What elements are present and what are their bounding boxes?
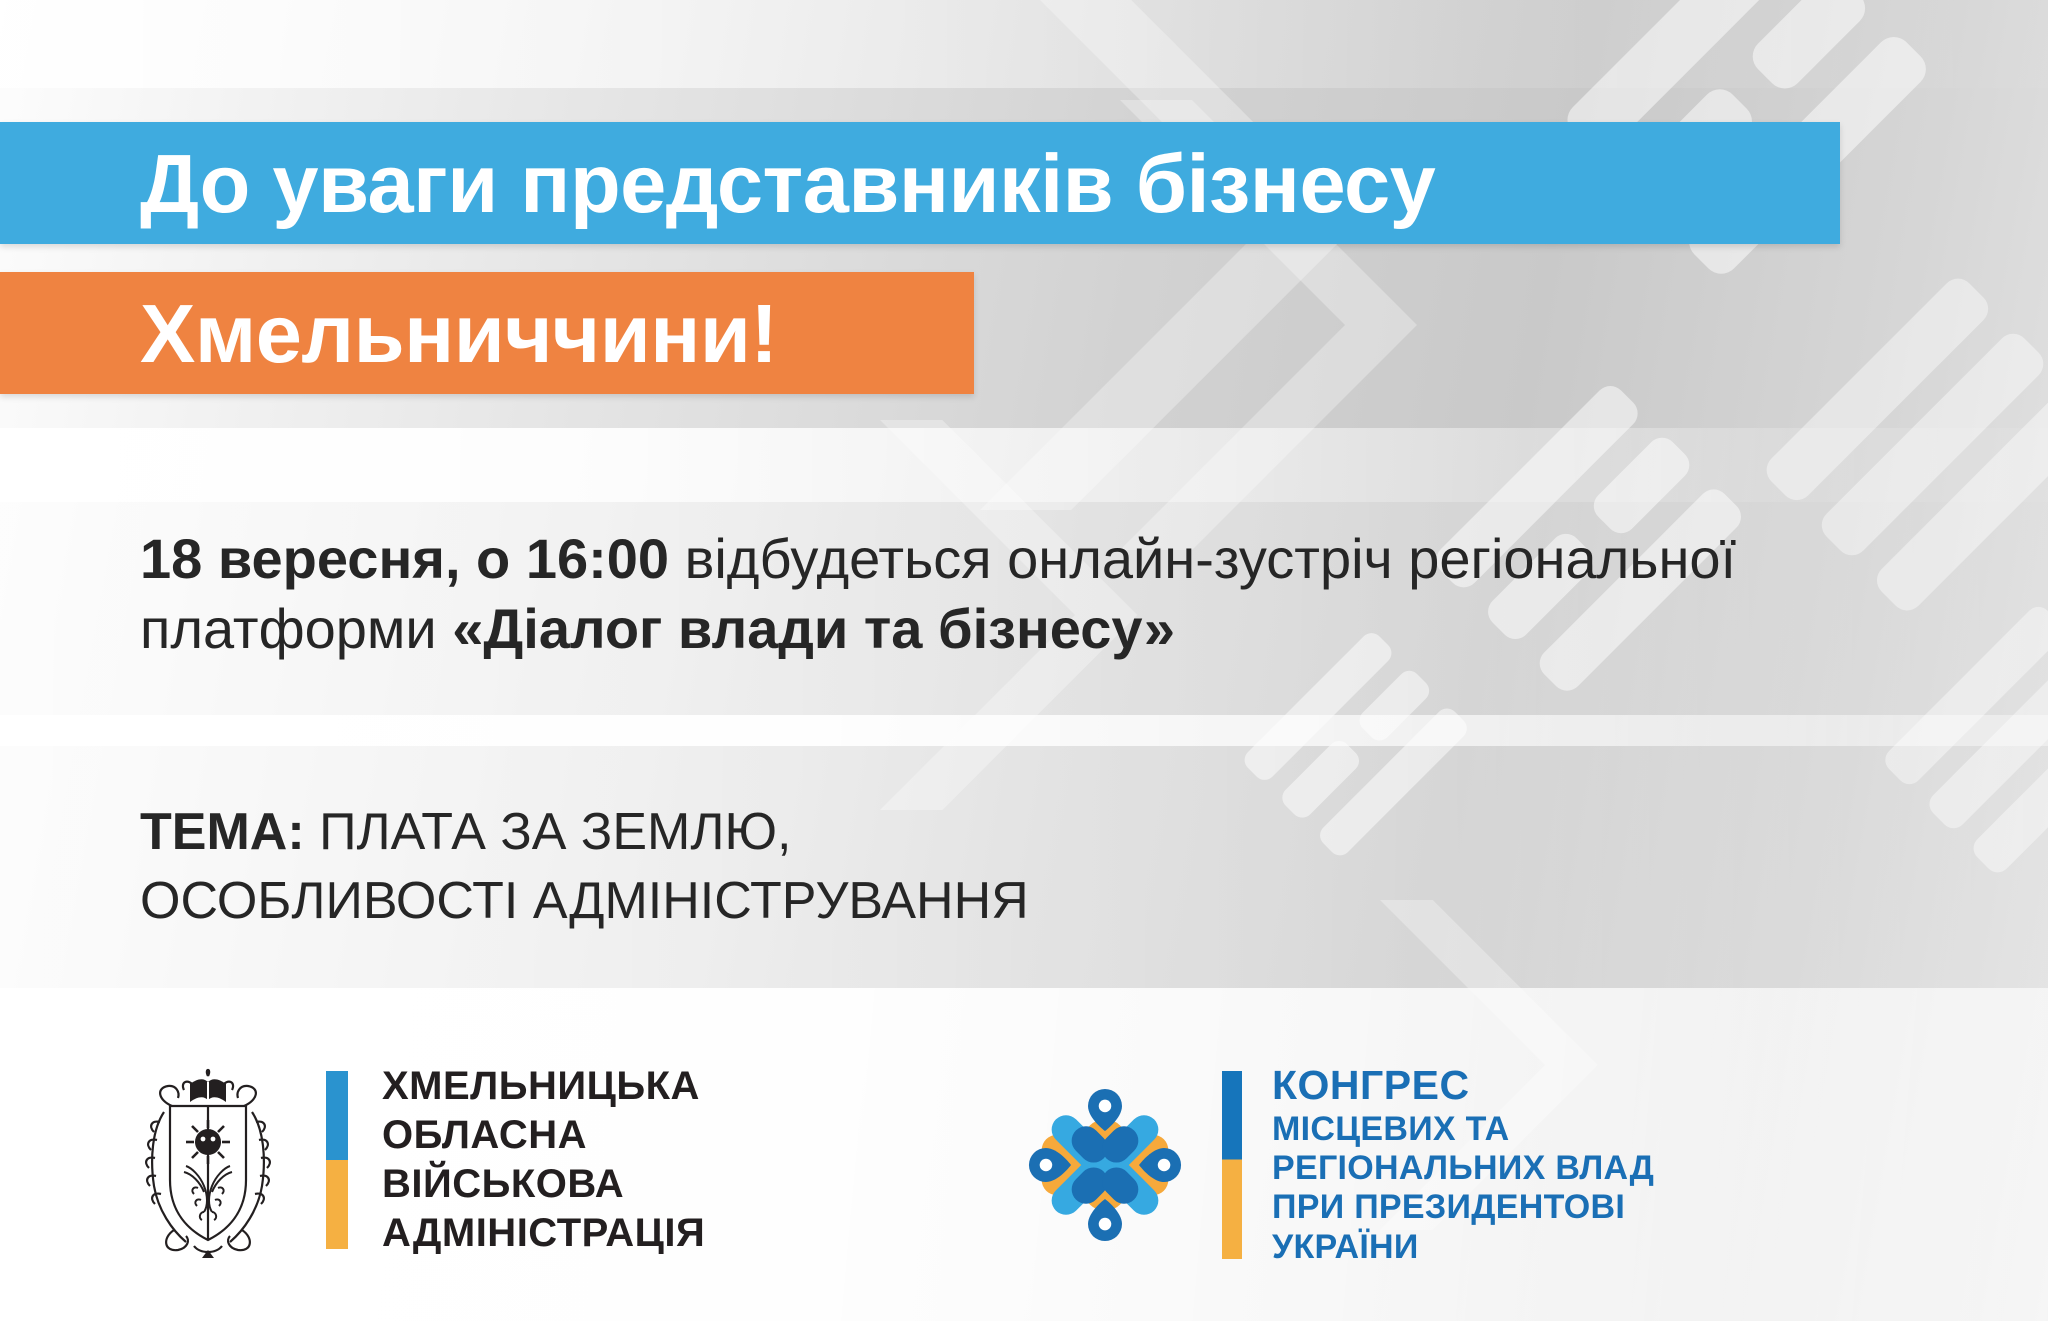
band-upper-white	[0, 428, 2048, 502]
logo-row: ХМЕЛЬНИЦЬКА ОБЛАСНА ВІЙСЬКОВА АДМІНІСТРА…	[0, 1060, 2048, 1310]
congress-line-2: МІСЦЕВИХ ТА	[1272, 1110, 1654, 1149]
topic-label: ТЕМА:	[140, 803, 305, 861]
oda-line-1: ХМЕЛЬНИЦЬКА	[382, 1062, 705, 1111]
topic-line-1: ПЛАТА ЗА ЗЕМЛЮ,	[305, 803, 792, 861]
congress-line-4: ПРИ ПРЕЗИДЕНТОВІ	[1272, 1188, 1654, 1227]
topic-block: ТЕМА: ПЛАТА ЗА ЗЕМЛЮ, ОСОБЛИВОСТІ АДМІНІ…	[140, 798, 1640, 935]
event-description: 18 вересня, о 16:00 відбудеться онлайн-з…	[140, 524, 1860, 664]
headline-bar-secondary: Хмельниччини!	[0, 272, 974, 394]
band-gap	[0, 715, 2048, 746]
oda-wordmark: ХМЕЛЬНИЦЬКА ОБЛАСНА ВІЙСЬКОВА АДМІНІСТРА…	[382, 1062, 705, 1257]
logo-congress: КОНГРЕС МІСЦЕВИХ ТА РЕГІОНАЛЬНИХ ВЛАД ПР…	[1020, 1062, 1654, 1267]
topic-line-2: ОСОБЛИВОСТІ АДМІНІСТРУВАННЯ	[140, 867, 1640, 936]
congress-line-5: УКРАЇНИ	[1272, 1228, 1654, 1267]
congress-line-3: РЕГІОНАЛЬНИХ ВЛАД	[1272, 1149, 1654, 1188]
logo-khmelnytska-oda: ХМЕЛЬНИЦЬКА ОБЛАСНА ВІЙСЬКОВА АДМІНІСТРА…	[128, 1060, 705, 1260]
headline-bar-primary: До уваги представників бізнесу	[0, 122, 1840, 244]
flag-accent-bar	[326, 1071, 348, 1249]
platform-name: «Діалог влади та бізнесу»	[452, 597, 1175, 660]
topic-first-line: ТЕМА: ПЛАТА ЗА ЗЕМЛЮ,	[140, 798, 1640, 867]
band-top	[0, 0, 2048, 88]
congress-line-1: КОНГРЕС	[1272, 1062, 1654, 1110]
flag-accent-bar-congress	[1222, 1071, 1242, 1259]
congress-wordmark: КОНГРЕС МІСЦЕВИХ ТА РЕГІОНАЛЬНИХ ВЛАД ПР…	[1272, 1062, 1654, 1267]
oda-line-2: ОБЛАСНА	[382, 1111, 705, 1160]
announcement-poster: До уваги представників бізнесу Хмельничч…	[0, 0, 2048, 1321]
congress-emblem-icon	[1020, 1070, 1190, 1260]
event-datetime: 18 вересня, о 16:00	[140, 527, 669, 590]
oda-line-3: ВІЙСЬКОВА	[382, 1160, 705, 1209]
headline-line-1: До уваги представників бізнесу	[0, 142, 1435, 225]
oda-line-4: АДМІНІСТРАЦІЯ	[382, 1209, 705, 1258]
headline-line-2: Хмельниччини!	[0, 292, 778, 375]
coat-of-arms-icon	[128, 1060, 288, 1260]
